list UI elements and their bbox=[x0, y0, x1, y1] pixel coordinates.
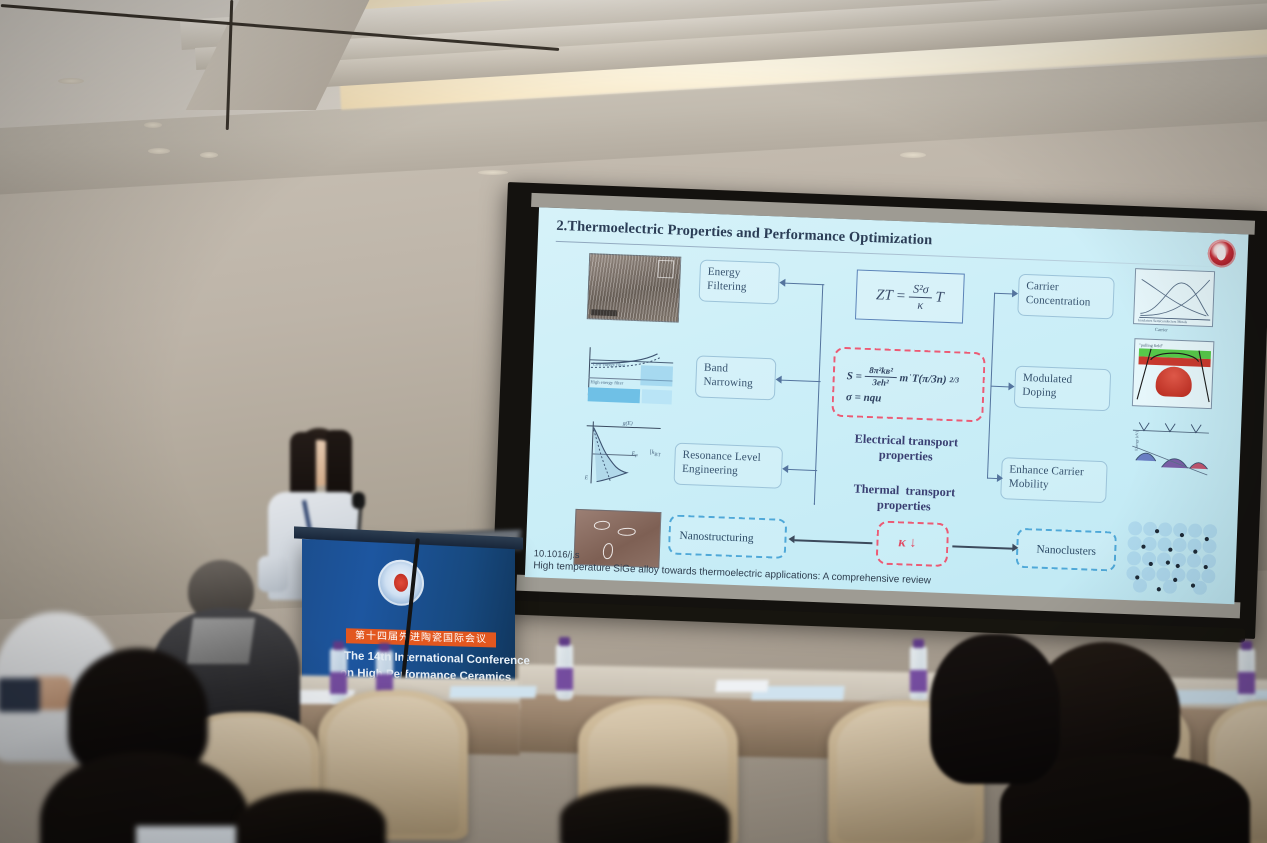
carrier-concentration-plot-thumbnail: Insulators Semiconductors Metals bbox=[1133, 268, 1215, 327]
paper-sheet bbox=[449, 686, 536, 698]
band-diagram-thumbnail: Low energy filter High energy filter bbox=[582, 341, 680, 407]
zt-denominator: κ bbox=[917, 297, 923, 311]
podium-banner-english-line1: The 14th International Conference bbox=[344, 650, 519, 667]
box-resonance-level-label: Resonance LevelEngineering bbox=[682, 449, 761, 477]
audience-head bbox=[560, 786, 730, 843]
bottle-cap bbox=[1241, 641, 1252, 650]
fermi-label: EF bbox=[631, 451, 637, 458]
modulated-doping-schematic-thumbnail: "pulling field" bbox=[1132, 338, 1215, 409]
connector-kappa-to-nanostructuring bbox=[794, 539, 872, 544]
box-carrier-concentration[interactable]: CarrierConcentration bbox=[1017, 274, 1115, 320]
water-bottle bbox=[1238, 648, 1255, 704]
audience-shirt bbox=[136, 826, 246, 843]
downlight-icon bbox=[478, 170, 508, 175]
zt-numerator: S²σ bbox=[909, 282, 933, 297]
zt-symbol: ZT bbox=[876, 287, 893, 305]
slide-title: 2.Thermoelectric Properties and Performa… bbox=[556, 218, 933, 249]
bottle-cap bbox=[333, 641, 344, 650]
kappa-down-label: κ ↓ bbox=[898, 535, 917, 552]
arrowhead-band-narrowing bbox=[775, 375, 781, 383]
energy-axis-label: E bbox=[585, 475, 589, 481]
conductivity-equation: σ = nqu bbox=[846, 391, 882, 404]
box-nanoclusters[interactable]: Nanoclusters bbox=[1016, 528, 1117, 572]
downlight-icon bbox=[58, 78, 84, 84]
university-seal-icon bbox=[1207, 239, 1236, 268]
seebeck-exponent: 2/3 bbox=[949, 376, 959, 385]
audience-hair bbox=[930, 634, 1060, 784]
scale-bar bbox=[591, 309, 617, 316]
tem-nanostructure-thumbnail bbox=[573, 509, 661, 568]
arrowhead-carrier-concentration bbox=[1012, 289, 1018, 297]
kappa-down-box: κ ↓ bbox=[876, 520, 950, 567]
sem-micrograph-thumbnail bbox=[587, 253, 681, 322]
energy-axis-label: Energy (eV) bbox=[1134, 431, 1140, 451]
box-energy-filtering[interactable]: EnergyFiltering bbox=[699, 259, 781, 304]
seebeck-lhs: S = bbox=[847, 370, 863, 383]
phone-device bbox=[0, 678, 40, 712]
zt-fraction: S²σ κ bbox=[908, 282, 933, 311]
bottle-label bbox=[556, 668, 573, 690]
zt-equation: ZT = S²σ κ T bbox=[856, 270, 964, 322]
connector-to-energy-filtering bbox=[784, 283, 824, 286]
zt-equals: = bbox=[895, 287, 906, 304]
box-energy-filtering-label: EnergyFiltering bbox=[707, 266, 747, 293]
box-nanoclusters-label: Nanoclusters bbox=[1027, 537, 1106, 559]
seebeck-denominator: 3eh² bbox=[872, 378, 889, 389]
audience-collar bbox=[187, 618, 255, 664]
presentation-slide: 2.Thermoelectric Properties and Performa… bbox=[525, 207, 1249, 604]
downlight-icon bbox=[900, 152, 926, 158]
dos-axis-label: g(E) bbox=[623, 421, 633, 427]
conference-room-photo: 2.Thermoelectric Properties and Performa… bbox=[0, 0, 1267, 843]
box-nanostructuring-label: Nanostructuring bbox=[679, 524, 776, 547]
seebeck-equation: S = 8π²kʙ² 3eh² mˈT(π/3n) 2/3 bbox=[846, 365, 959, 391]
box-carrier-concentration-label: CarrierConcentration bbox=[1026, 280, 1091, 308]
arrowhead-enhance-mobility bbox=[997, 474, 1003, 482]
bottle-label bbox=[1238, 672, 1255, 694]
bottle-cap bbox=[559, 637, 570, 646]
dos-resonance-thumbnail: g(E) EF E [kBT bbox=[576, 417, 673, 491]
connector-to-resonance bbox=[787, 469, 817, 472]
cc-plot-caption: Carrier bbox=[1155, 327, 1168, 332]
lattice-svg bbox=[1125, 520, 1218, 595]
connector-to-band-narrowing bbox=[781, 380, 821, 383]
sheet-block bbox=[642, 389, 673, 404]
presenter-arm bbox=[258, 556, 288, 592]
arrowhead-energy-filtering bbox=[779, 278, 785, 286]
box-band-narrowing[interactable]: BandNarrowing bbox=[695, 355, 777, 400]
seebeck-rest: mˈT(π/3n) bbox=[899, 372, 946, 386]
thermal-transport-label: Thermal transportproperties bbox=[824, 480, 985, 516]
downlight-icon bbox=[148, 148, 170, 154]
arrowhead-nanostructuring bbox=[788, 535, 794, 543]
box-modulated-doping[interactable]: ModulatedDoping bbox=[1014, 366, 1112, 412]
doi-text: 10.1016/j.s bbox=[534, 547, 580, 560]
band-structure-thumbnail: Energy (eV) bbox=[1125, 416, 1213, 483]
electrical-transport-label: Electrical transportproperties bbox=[826, 430, 987, 466]
micrograph-inset bbox=[657, 260, 674, 279]
nanostructure-outline bbox=[603, 543, 614, 559]
box-band-narrowing-label: BandNarrowing bbox=[703, 362, 753, 389]
arrowhead-nanoclusters bbox=[1012, 544, 1018, 552]
box-resonance-level-engineering[interactable]: Resonance LevelEngineering bbox=[674, 443, 784, 489]
bottle-cap bbox=[913, 639, 924, 648]
water-bottle bbox=[910, 646, 927, 702]
bottle-label bbox=[330, 672, 347, 694]
arrowhead-modulated-doping bbox=[1008, 382, 1014, 390]
water-bottle bbox=[556, 644, 573, 700]
box-enhance-carrier-mobility-label: Enhance CarrierMobility bbox=[1009, 463, 1084, 490]
downlight-icon bbox=[144, 122, 162, 128]
seebeck-fraction: 8π²kʙ² 3eh² bbox=[865, 366, 898, 389]
connector-left-spine-end bbox=[814, 503, 815, 505]
seebeck-numerator: 8π²kʙ² bbox=[865, 366, 897, 379]
zt-equation-box: ZT = S²σ κ T bbox=[855, 269, 965, 323]
podium-banner-chinese: 第十四届先进陶瓷国际会议 bbox=[346, 628, 496, 647]
bottle-cap bbox=[379, 643, 390, 652]
bracket-label: [kBT bbox=[650, 450, 661, 459]
downlight-icon bbox=[200, 152, 218, 158]
water-bottle bbox=[330, 648, 347, 704]
box-modulated-doping-label: ModulatedDoping bbox=[1022, 372, 1072, 399]
band-shade bbox=[640, 365, 673, 386]
paper-sheet bbox=[715, 680, 768, 692]
nanostructure-outline bbox=[618, 527, 636, 536]
box-nanostructuring[interactable]: Nanostructuring bbox=[668, 514, 787, 559]
seebeck-equation-box: S = 8π²kʙ² 3eh² mˈT(π/3n) 2/3 σ = nqu bbox=[831, 347, 986, 423]
heat-material-block bbox=[588, 387, 640, 403]
conference-emblem-icon bbox=[378, 559, 424, 606]
connector-kappa-to-nanoclusters bbox=[952, 545, 1014, 549]
bottle-label bbox=[910, 670, 927, 692]
arrowhead-resonance bbox=[782, 465, 788, 473]
projection-screen: 2.Thermoelectric Properties and Performa… bbox=[491, 182, 1267, 651]
nanocluster-lattice-thumbnail bbox=[1125, 520, 1218, 595]
box-enhance-carrier-mobility[interactable]: Enhance CarrierMobility bbox=[1000, 457, 1108, 503]
nanostructure-outline bbox=[594, 521, 610, 531]
zt-temperature: T bbox=[935, 289, 944, 306]
